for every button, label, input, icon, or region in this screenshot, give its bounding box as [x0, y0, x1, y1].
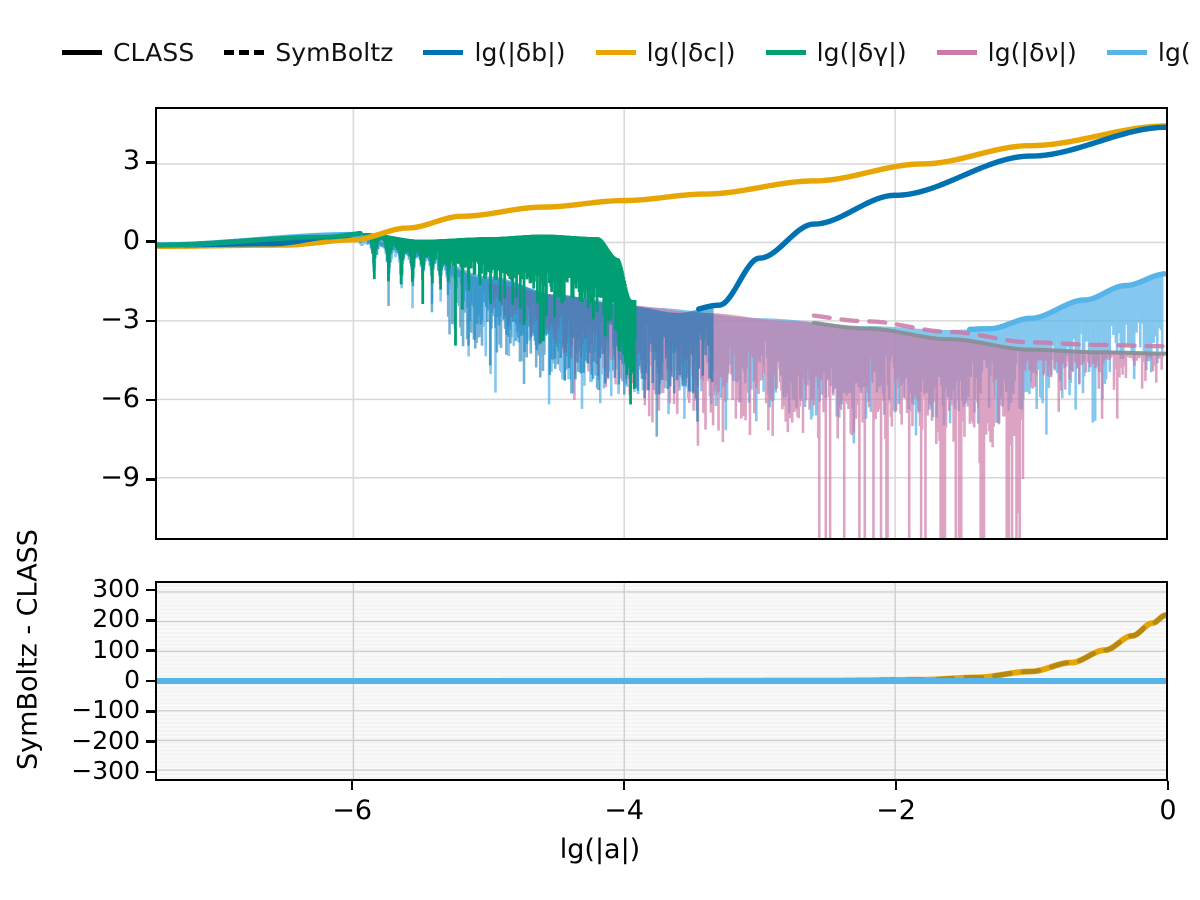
residual-y-axis-label: SymBoltz - CLASS	[13, 490, 44, 810]
legend-delta-b-label: lg(|δb|)	[474, 40, 565, 65]
main-ytick-mark-0	[146, 161, 155, 164]
residual-plot-panel	[155, 581, 1168, 781]
resid-xtick-label-0: −6	[312, 797, 392, 824]
main-ytick-label-0: 3	[30, 147, 140, 174]
resid-ytick-mark-4	[146, 710, 155, 713]
resid-xtick-label-2: −2	[856, 797, 936, 824]
legend-delta-gamma-label: lg(|δγ|)	[817, 40, 907, 65]
legend-delta-c[interactable]: lg(|δc|)	[596, 40, 736, 65]
legend-delta-b[interactable]: lg(|δb|)	[423, 40, 565, 65]
legend-delta-b-swatch-icon	[423, 50, 463, 55]
resid-ytick-mark-3	[146, 680, 155, 683]
resid-xtick-mark-2	[895, 781, 898, 790]
legend-delta-nu-swatch-icon	[937, 50, 977, 55]
legend-delta-clipped-swatch-icon	[1107, 50, 1147, 55]
main-ytick-label-2: −3	[30, 306, 140, 333]
resid-ytick-mark-5	[146, 740, 155, 743]
main-ytick-label-4: −9	[30, 464, 140, 491]
main-ytick-mark-1	[146, 240, 155, 243]
chart-legend: CLASSSymBoltzlg(|δb|)lg(|δc|)lg(|δγ|)lg(…	[0, 24, 1200, 80]
legend-symboltz-swatch-icon	[224, 50, 264, 55]
x-axis-label: lg(|a|)	[0, 834, 1200, 865]
legend-symboltz-label: SymBoltz	[275, 40, 393, 65]
legend-delta-nu-label: lg(|δν|)	[988, 40, 1077, 65]
legend-delta-clipped[interactable]: lg(	[1107, 40, 1191, 65]
main-plot-panel	[155, 107, 1168, 540]
resid-xtick-mark-1	[623, 781, 626, 790]
main-ytick-mark-3	[146, 399, 155, 402]
main-ytick-mark-4	[146, 478, 155, 481]
legend-delta-clipped-label: lg(	[1158, 40, 1191, 65]
resid-xtick-label-3: 0	[1128, 797, 1200, 824]
legend-symboltz[interactable]: SymBoltz	[224, 40, 393, 65]
series-delta-b-symboltz	[699, 127, 1166, 309]
resid-xtick-label-1: −4	[584, 797, 664, 824]
main-ytick-mark-2	[146, 320, 155, 323]
resid-ytick-mark-1	[146, 619, 155, 622]
resid-ytick-mark-6	[146, 771, 155, 774]
resid-xtick-mark-3	[1167, 781, 1170, 790]
series-delta-c-symboltz	[157, 126, 1166, 246]
legend-delta-c-label: lg(|δc|)	[647, 40, 736, 65]
main-ytick-label-3: −6	[30, 385, 140, 412]
legend-class-label: CLASS	[113, 40, 194, 65]
main-ytick-label-1: 0	[30, 227, 140, 254]
legend-delta-nu[interactable]: lg(|δν|)	[937, 40, 1077, 65]
resid-ytick-mark-0	[146, 589, 155, 592]
legend-delta-gamma[interactable]: lg(|δγ|)	[766, 40, 907, 65]
main-plot-canvas	[157, 109, 1166, 538]
legend-delta-c-swatch-icon	[596, 50, 636, 55]
legend-delta-gamma-swatch-icon	[766, 50, 806, 55]
residual-plot-canvas	[157, 583, 1166, 779]
legend-class[interactable]: CLASS	[62, 40, 194, 65]
figure-root: CLASSSymBoltzlg(|δb|)lg(|δc|)lg(|δγ|)lg(…	[0, 0, 1200, 900]
resid-ytick-mark-2	[146, 649, 155, 652]
legend-class-swatch-icon	[62, 50, 102, 55]
resid-xtick-mark-0	[351, 781, 354, 790]
series-delta-b-late	[699, 127, 1166, 309]
